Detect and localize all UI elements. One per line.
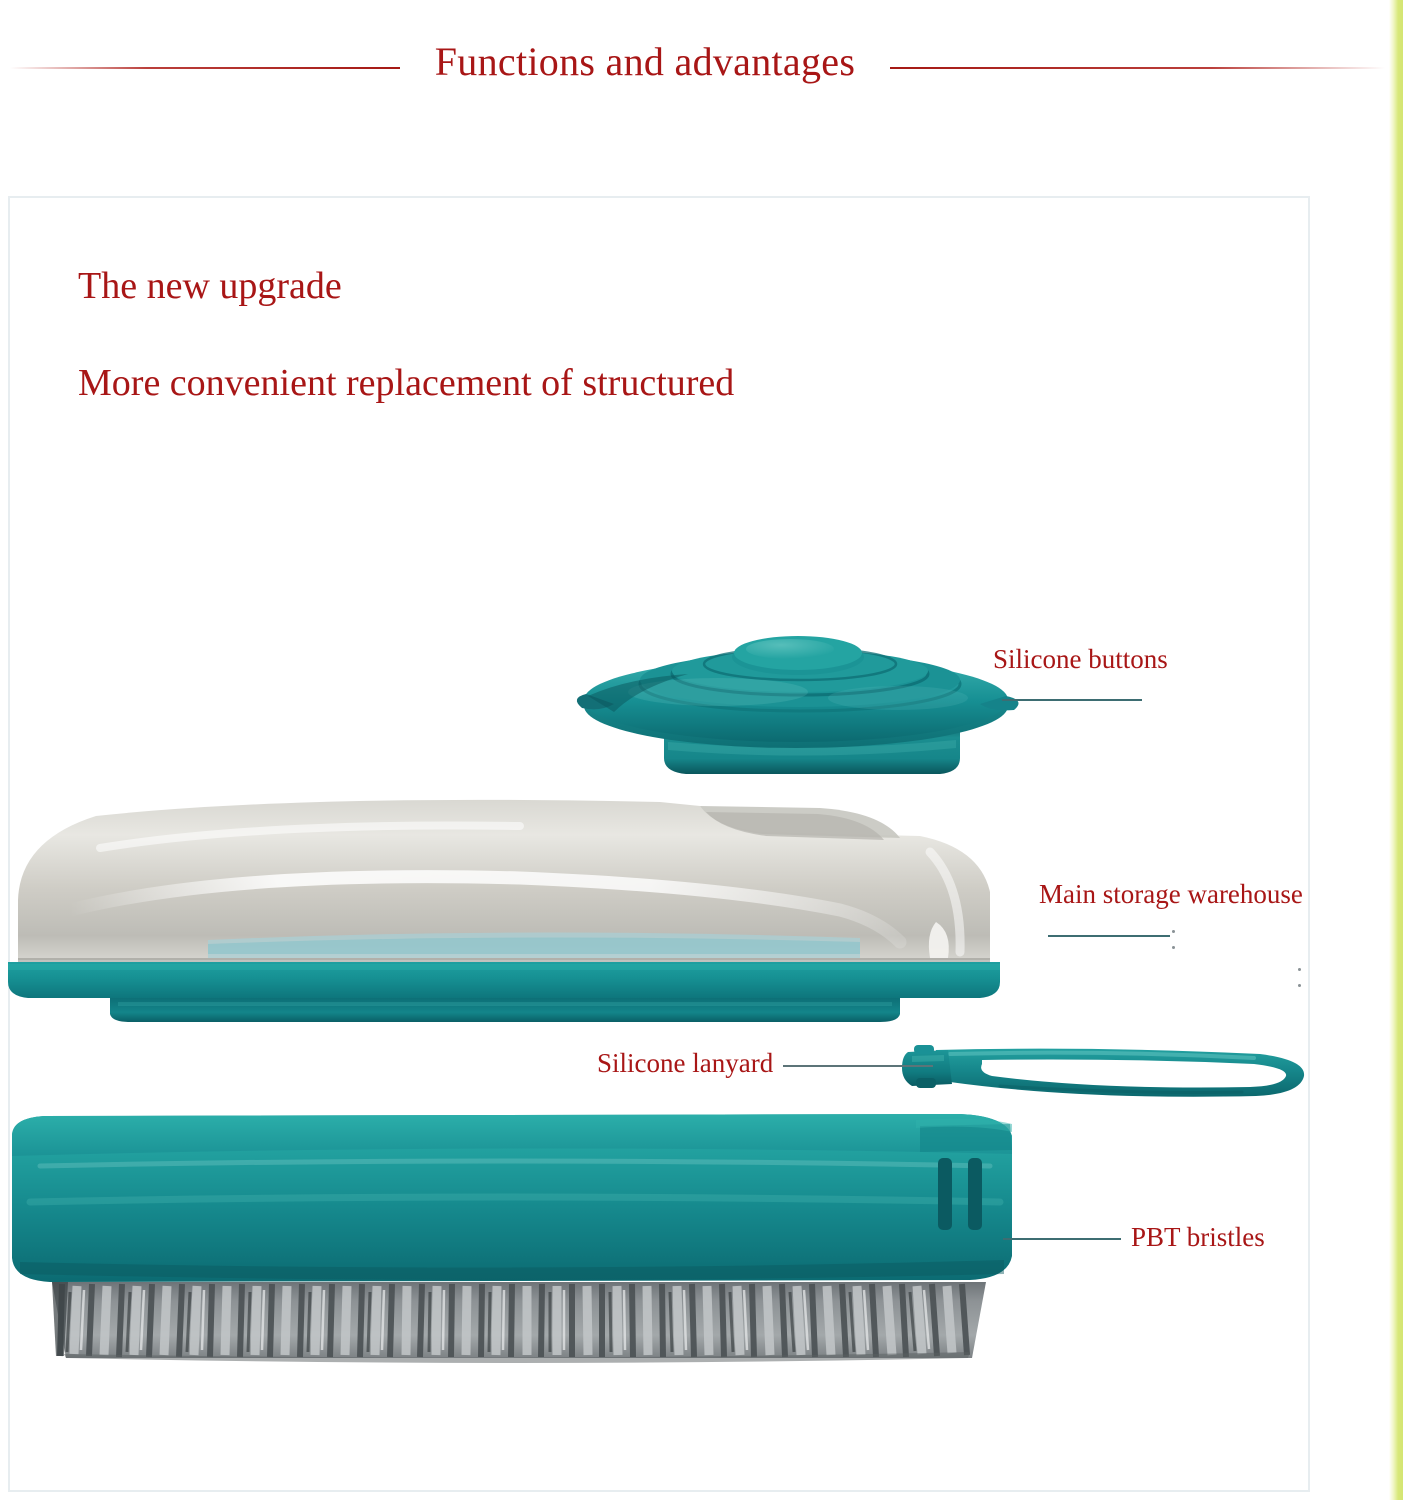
part-main-storage-warehouse [0, 782, 1060, 1022]
callout-label-silicone-buttons: Silicone buttons [993, 644, 1168, 675]
headline-primary: The new upgrade [78, 265, 342, 309]
header: Functions and advantages [0, 0, 1389, 140]
callout-leader-silicone-buttons [1002, 699, 1142, 701]
part-silicone-button-cap [568, 626, 1028, 791]
product-infographic: Functions and advantages The new upgrade… [0, 0, 1403, 1500]
header-rule-left [10, 67, 400, 69]
noise-dot [1298, 968, 1301, 971]
noise-dot [1298, 984, 1301, 987]
headline-secondary: More convenient replacement of structure… [78, 362, 734, 406]
callout-label-main-storage: Main storage warehouse [1039, 879, 1303, 910]
noise-dot [1172, 930, 1175, 933]
callout-label-pbt-bristles: PBT bristles [1131, 1222, 1265, 1253]
part-brush-head [0, 1106, 1055, 1366]
edge-accent-stripe [1389, 0, 1403, 1500]
header-rule-right [890, 67, 1385, 69]
callout-leader-silicone-lanyard [783, 1065, 933, 1067]
callout-leader-main-storage [1048, 935, 1170, 937]
callout-label-silicone-lanyard: Silicone lanyard [597, 1048, 773, 1079]
page-title: Functions and advantages [395, 40, 895, 84]
noise-dot [1172, 946, 1175, 949]
callout-leader-pbt-bristles [1003, 1238, 1121, 1240]
